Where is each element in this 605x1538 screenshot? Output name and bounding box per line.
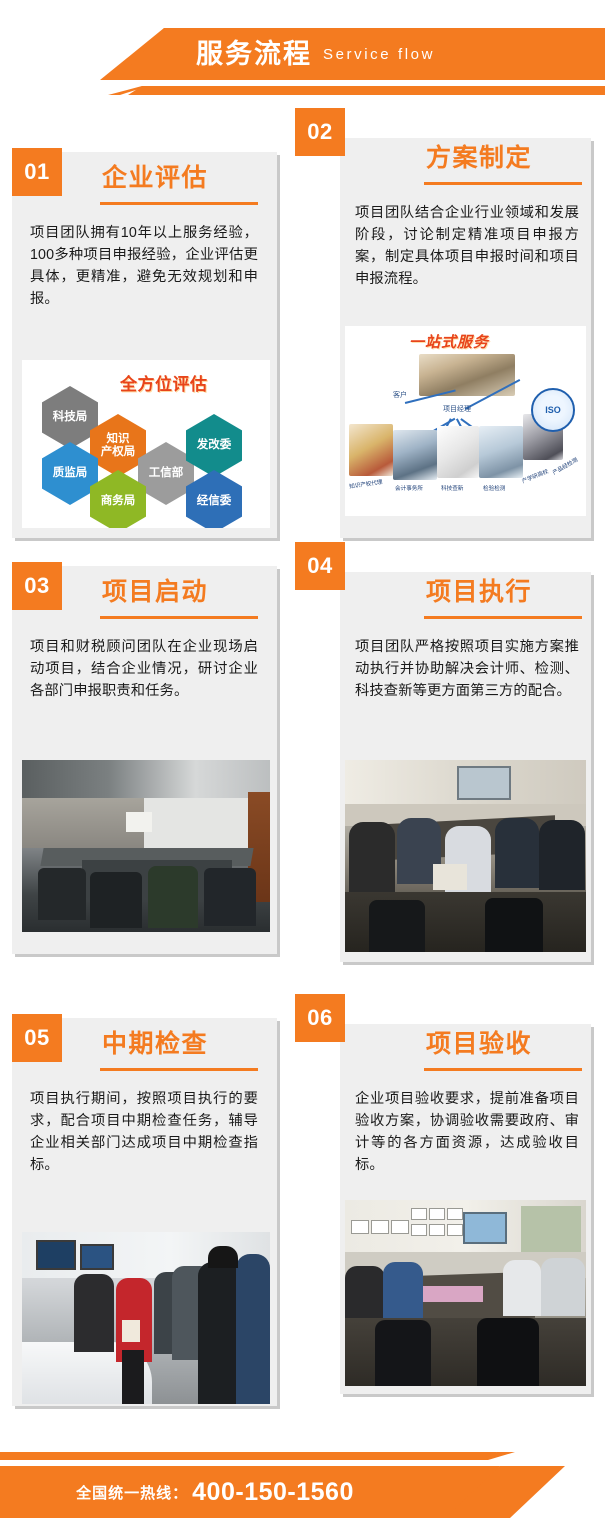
card-03-title: 项目启动 bbox=[102, 580, 208, 605]
card-03[interactable]: 03 项目启动 项目和财税顾问团队在企业现场启动项目，结合企业情况，研讨企业各部… bbox=[12, 562, 282, 954]
card-05-body: 项目执行期间，按照项目执行的要求，配合项目中期检查任务，辅导企业相关部门达成项目… bbox=[30, 1088, 258, 1177]
hotline-label: 全国统一热线： bbox=[76, 1482, 188, 1503]
card-04-number-badge: 04 bbox=[295, 542, 345, 590]
card-02[interactable]: 02 方案制定 项目团队结合企业行业领域和发展阶段，讨论制定精准项目申报方案，制… bbox=[295, 108, 593, 538]
hex-node-zhishichanquan: 知识 产权局 bbox=[90, 414, 146, 477]
one-stop-title: 一站式服务 bbox=[409, 331, 489, 352]
hexagon-assessment-chart: 全方位评估 科技局 知识 产权局 质监局 工信部 商务局 发改委 经信委 bbox=[22, 360, 270, 528]
card-02-title: 方案制定 bbox=[426, 146, 532, 171]
hex-node-shangwu: 商务局 bbox=[90, 470, 146, 528]
card-01-title-rule bbox=[100, 202, 258, 205]
card-01-number-badge: 01 bbox=[12, 148, 62, 196]
card-06-body: 企业项目验收要求，提前准备项目验收方案，协调验收需要政府、审计等的各方面资源，达… bbox=[355, 1088, 579, 1177]
meeting-discussion-photo bbox=[345, 760, 586, 952]
card-05-title-rule bbox=[100, 1068, 258, 1071]
card-03-title-rule bbox=[100, 616, 258, 619]
hex-node-gongxin: 工信部 bbox=[138, 442, 194, 505]
card-01[interactable]: 01 企业评估 项目团队拥有10年以上服务经验，100多种项目申报经验，企业评估… bbox=[12, 148, 282, 538]
hotline-number[interactable]: 400-150-1560 bbox=[192, 1478, 354, 1507]
footer-banner: 全国统一热线： 400-150-1560 bbox=[0, 1418, 605, 1538]
hex-node-zhijian: 质监局 bbox=[42, 442, 98, 505]
card-03-number-badge: 03 bbox=[12, 562, 62, 610]
card-02-title-rule bbox=[424, 182, 582, 185]
card-06-number-badge: 06 bbox=[295, 994, 345, 1042]
one-stop-center-label: 项目经理 bbox=[443, 404, 471, 414]
card-04-body: 项目团队严格按照项目实施方案推动执行并协助解决会计师、检测、科技查新等更方面第三… bbox=[355, 636, 579, 702]
one-stop-client-label: 客户 bbox=[393, 390, 407, 400]
iso-seal-icon: ISO bbox=[531, 388, 575, 432]
hex-chart-title: 全方位评估 bbox=[120, 370, 208, 395]
acceptance-meeting-photo bbox=[345, 1200, 586, 1386]
card-04-title-rule bbox=[424, 616, 582, 619]
card-06[interactable]: 06 项目验收 企业项目验收要求，提前准备项目验收方案，协调验收需要政府、审计等… bbox=[295, 994, 593, 1394]
partner-label-5: 产学研高校 bbox=[521, 467, 550, 485]
card-02-body: 项目团队结合企业行业领域和发展阶段，讨论制定精准项目申报方案，制定具体项目申报时… bbox=[355, 202, 579, 291]
partner-label-2: 会计事务所 bbox=[395, 484, 423, 492]
partner-photo-3 bbox=[437, 426, 479, 478]
card-01-body: 项目团队拥有10年以上服务经验，100多种项目申报经验，企业评估更具体，更精准，… bbox=[30, 222, 258, 311]
card-06-title: 项目验收 bbox=[426, 1032, 532, 1057]
partner-label-3: 科技查新 bbox=[441, 484, 463, 492]
card-04[interactable]: 04 项目执行 项目团队严格按照项目实施方案推动执行并协助解决会计师、检测、科技… bbox=[295, 542, 593, 962]
card-05[interactable]: 05 中期检查 项目执行期间，按照项目执行的要求，配合项目中期检查任务，辅导企业… bbox=[12, 1014, 282, 1406]
card-06-title-rule bbox=[424, 1068, 582, 1071]
card-04-title: 项目执行 bbox=[426, 580, 532, 605]
partner-label-1: 知识产权代理 bbox=[349, 478, 383, 491]
partner-photo-1 bbox=[349, 424, 393, 476]
card-03-body: 项目和财税顾问团队在企业现场启动项目，结合企业情况，研讨企业各部门申报职责和任务… bbox=[30, 636, 258, 702]
hex-node-jingxin: 经信委 bbox=[186, 470, 242, 528]
card-02-number-badge: 02 bbox=[295, 108, 345, 156]
card-01-title: 企业评估 bbox=[102, 166, 208, 191]
site-visit-photo bbox=[22, 1232, 270, 1404]
conference-room-photo bbox=[22, 760, 270, 932]
hotline-group: 全国统一热线： 400-150-1560 bbox=[0, 1466, 430, 1518]
hex-node-fagai: 发改委 bbox=[186, 414, 242, 477]
partner-photo-2 bbox=[393, 430, 437, 480]
partner-photo-4 bbox=[479, 426, 523, 478]
footer-topline bbox=[0, 1452, 497, 1460]
card-05-title: 中期检查 bbox=[102, 1032, 208, 1057]
partner-label-4: 检验检测 bbox=[483, 484, 505, 492]
hex-node-keji: 科技局 bbox=[42, 386, 98, 449]
card-05-number-badge: 05 bbox=[12, 1014, 62, 1062]
one-stop-service-diagram: 一站式服务 客户 项目经理 ISO 知识产权代理 会计事务所 科技查新 检验检测… bbox=[345, 326, 586, 516]
cards-grid: 01 企业评估 项目团队拥有10年以上服务经验，100多种项目申报经验，企业评估… bbox=[0, 0, 605, 1538]
